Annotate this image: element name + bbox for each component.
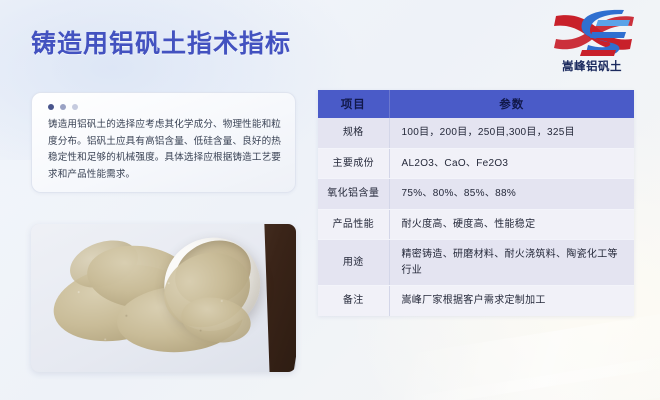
dot-light-icon <box>72 104 78 110</box>
specification-table: 项目 参数 规格100目，200目，250目,300目，325目主要成份AL2O… <box>318 90 634 316</box>
cell-item: 规格 <box>318 118 389 148</box>
cell-param: 精密铸造、研磨材料、耐火浇筑料、陶瓷化工等行业 <box>389 240 634 286</box>
table-body: 规格100目，200目，250目,300目，325目主要成份AL2O3、CaO、… <box>318 118 634 316</box>
column-header-item: 项目 <box>318 90 389 118</box>
cell-param: 耐火度高、硬度高、性能稳定 <box>389 209 634 240</box>
cell-item: 备注 <box>318 286 389 316</box>
cell-param: 75%、80%、85%、88% <box>389 179 634 210</box>
logo-company-name: 嵩峰铝矾土 <box>538 58 646 74</box>
column-header-param: 参数 <box>389 90 634 118</box>
table-row: 规格100目，200目，250目,300目，325目 <box>318 118 634 148</box>
table-row: 用途精密铸造、研磨材料、耐火浇筑料、陶瓷化工等行业 <box>318 240 634 286</box>
dot-medium-icon <box>60 104 66 110</box>
cell-item: 氧化铝含量 <box>318 179 389 210</box>
dot-dark-icon <box>48 104 54 110</box>
cell-item: 主要成份 <box>318 148 389 179</box>
cell-param: 嵩峰厂家根据客户需求定制加工 <box>389 286 634 316</box>
cell-param: 100目，200目，250目,300目，325目 <box>389 118 634 148</box>
brand-logo: 嵩峰铝矾土 <box>538 8 646 78</box>
table-row: 氧化铝含量75%、80%、85%、88% <box>318 179 634 210</box>
cell-item: 用途 <box>318 240 389 286</box>
description-text: 铸造用铝矾土的选择应考虑其化学成分、物理性能和粒度分布。铝矾土应具有高铝含量、低… <box>48 117 281 183</box>
decorative-streak <box>389 348 660 400</box>
card-dots <box>48 104 281 110</box>
cell-param: AL2O3、CaO、Fe2O3 <box>389 148 634 179</box>
table-row: 主要成份AL2O3、CaO、Fe2O3 <box>318 148 634 179</box>
slide-canvas: 铸造用铝矾土指术指标 嵩峰铝矾土 铸造用铝矾土的选择应考虑其化学成分、物理性能和… <box>0 0 660 400</box>
decorative-streak <box>398 309 660 400</box>
bauxite-powder-photo <box>31 224 296 372</box>
cell-item: 产品性能 <box>318 209 389 240</box>
table-row: 产品性能耐火度高、硬度高、性能稳定 <box>318 209 634 240</box>
table-row: 备注嵩峰厂家根据客户需求定制加工 <box>318 286 634 316</box>
description-card: 铸造用铝矾土的选择应考虑其化学成分、物理性能和粒度分布。铝矾土应具有高铝含量、低… <box>31 92 296 193</box>
page-title: 铸造用铝矾土指术指标 <box>31 24 291 60</box>
songfeng-s-logo-icon <box>538 8 646 60</box>
table-header-row: 项目 参数 <box>318 90 634 118</box>
